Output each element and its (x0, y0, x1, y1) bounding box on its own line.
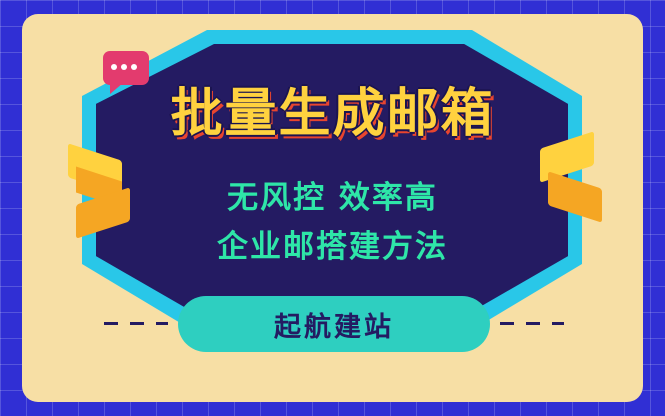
cta-button-label: 起航建站 (274, 305, 394, 344)
poster-title: 批量生成邮箱 (0, 88, 665, 140)
dashed-line-right (500, 322, 564, 325)
dashed-line-left (104, 322, 168, 325)
poster-image: 批量生成邮箱 无风控 效率高 企业邮搭建方法 起航建站 (0, 0, 665, 416)
chat-bubble-icon (103, 51, 149, 85)
poster-subtitle-line-2: 企业邮搭建方法 (0, 232, 665, 263)
ellipsis-dots-icon (111, 64, 137, 70)
cta-button[interactable]: 起航建站 (178, 296, 490, 352)
poster-subtitle-line-1: 无风控 效率高 (0, 183, 665, 214)
